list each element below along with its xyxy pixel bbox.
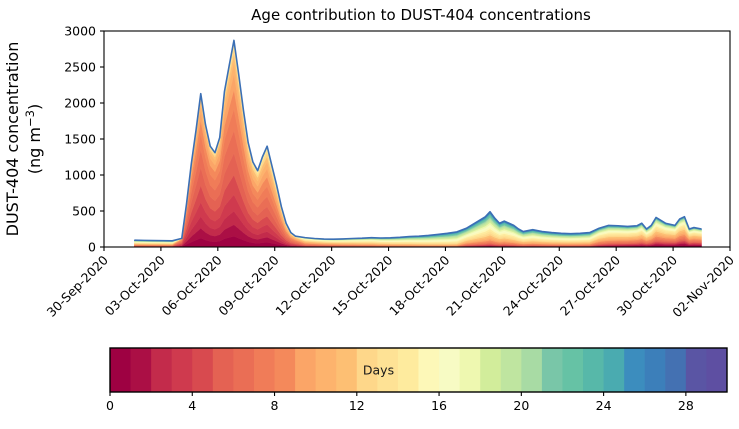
y-tick-label: 2500 bbox=[64, 60, 96, 75]
y-tick-label: 2000 bbox=[64, 96, 96, 111]
colorbar-band-21 bbox=[542, 348, 563, 392]
colorbar-tick-label: 0 bbox=[106, 398, 114, 413]
chart-svg: 050010001500200025003000 30-Sep-202003-O… bbox=[0, 0, 739, 425]
colorbar-tick-label: 4 bbox=[188, 398, 196, 413]
colorbar-band-4 bbox=[192, 348, 213, 392]
y-tick-label: 500 bbox=[72, 204, 96, 219]
colorbar-band-26 bbox=[645, 348, 666, 392]
colorbar-band-14 bbox=[398, 348, 419, 392]
colorbar-band-22 bbox=[562, 348, 583, 392]
y-tick-label: 3000 bbox=[64, 24, 96, 39]
colorbar-tick-label: 8 bbox=[271, 398, 279, 413]
colorbar-band-29 bbox=[706, 348, 727, 392]
colorbar-band-19 bbox=[501, 348, 522, 392]
colorbar-band-9 bbox=[295, 348, 316, 392]
colorbar-band-1 bbox=[131, 348, 152, 392]
y-tick-label: 1000 bbox=[64, 168, 96, 183]
colorbar-tick-label: 20 bbox=[513, 398, 529, 413]
colorbar-band-18 bbox=[480, 348, 501, 392]
colorbar-band-7 bbox=[254, 348, 275, 392]
colorbar-band-27 bbox=[665, 348, 686, 392]
colorbar-band-28 bbox=[686, 348, 707, 392]
colorbar-label: Days bbox=[363, 363, 394, 378]
y-tick-label: 1500 bbox=[64, 132, 96, 147]
colorbar-tick-label: 16 bbox=[431, 398, 447, 413]
colorbar-band-5 bbox=[213, 348, 234, 392]
y-axis-title-line1: DUST-404 concentration bbox=[3, 42, 22, 237]
colorbar-band-2 bbox=[151, 348, 172, 392]
colorbar-band-11 bbox=[336, 348, 357, 392]
colorbar-tick-label: 24 bbox=[596, 398, 612, 413]
colorbar-band-25 bbox=[624, 348, 645, 392]
colorbar-tick-label: 12 bbox=[349, 398, 365, 413]
plot-title: Age contribution to DUST-404 concentrati… bbox=[251, 6, 591, 24]
colorbar-band-17 bbox=[460, 348, 481, 392]
colorbar-band-6 bbox=[233, 348, 254, 392]
y-tick-label: 0 bbox=[88, 240, 96, 255]
colorbar-band-8 bbox=[275, 348, 296, 392]
colorbar-tick-label: 28 bbox=[678, 398, 694, 413]
colorbar-band-15 bbox=[419, 348, 440, 392]
colorbar-band-10 bbox=[316, 348, 337, 392]
colorbar-band-24 bbox=[604, 348, 625, 392]
colorbar-band-0 bbox=[110, 348, 131, 392]
colorbar-band-20 bbox=[521, 348, 542, 392]
figure-canvas: 050010001500200025003000 30-Sep-202003-O… bbox=[0, 0, 739, 425]
colorbar-band-3 bbox=[172, 348, 193, 392]
colorbar-band-16 bbox=[439, 348, 460, 392]
colorbar-band-23 bbox=[583, 348, 604, 392]
